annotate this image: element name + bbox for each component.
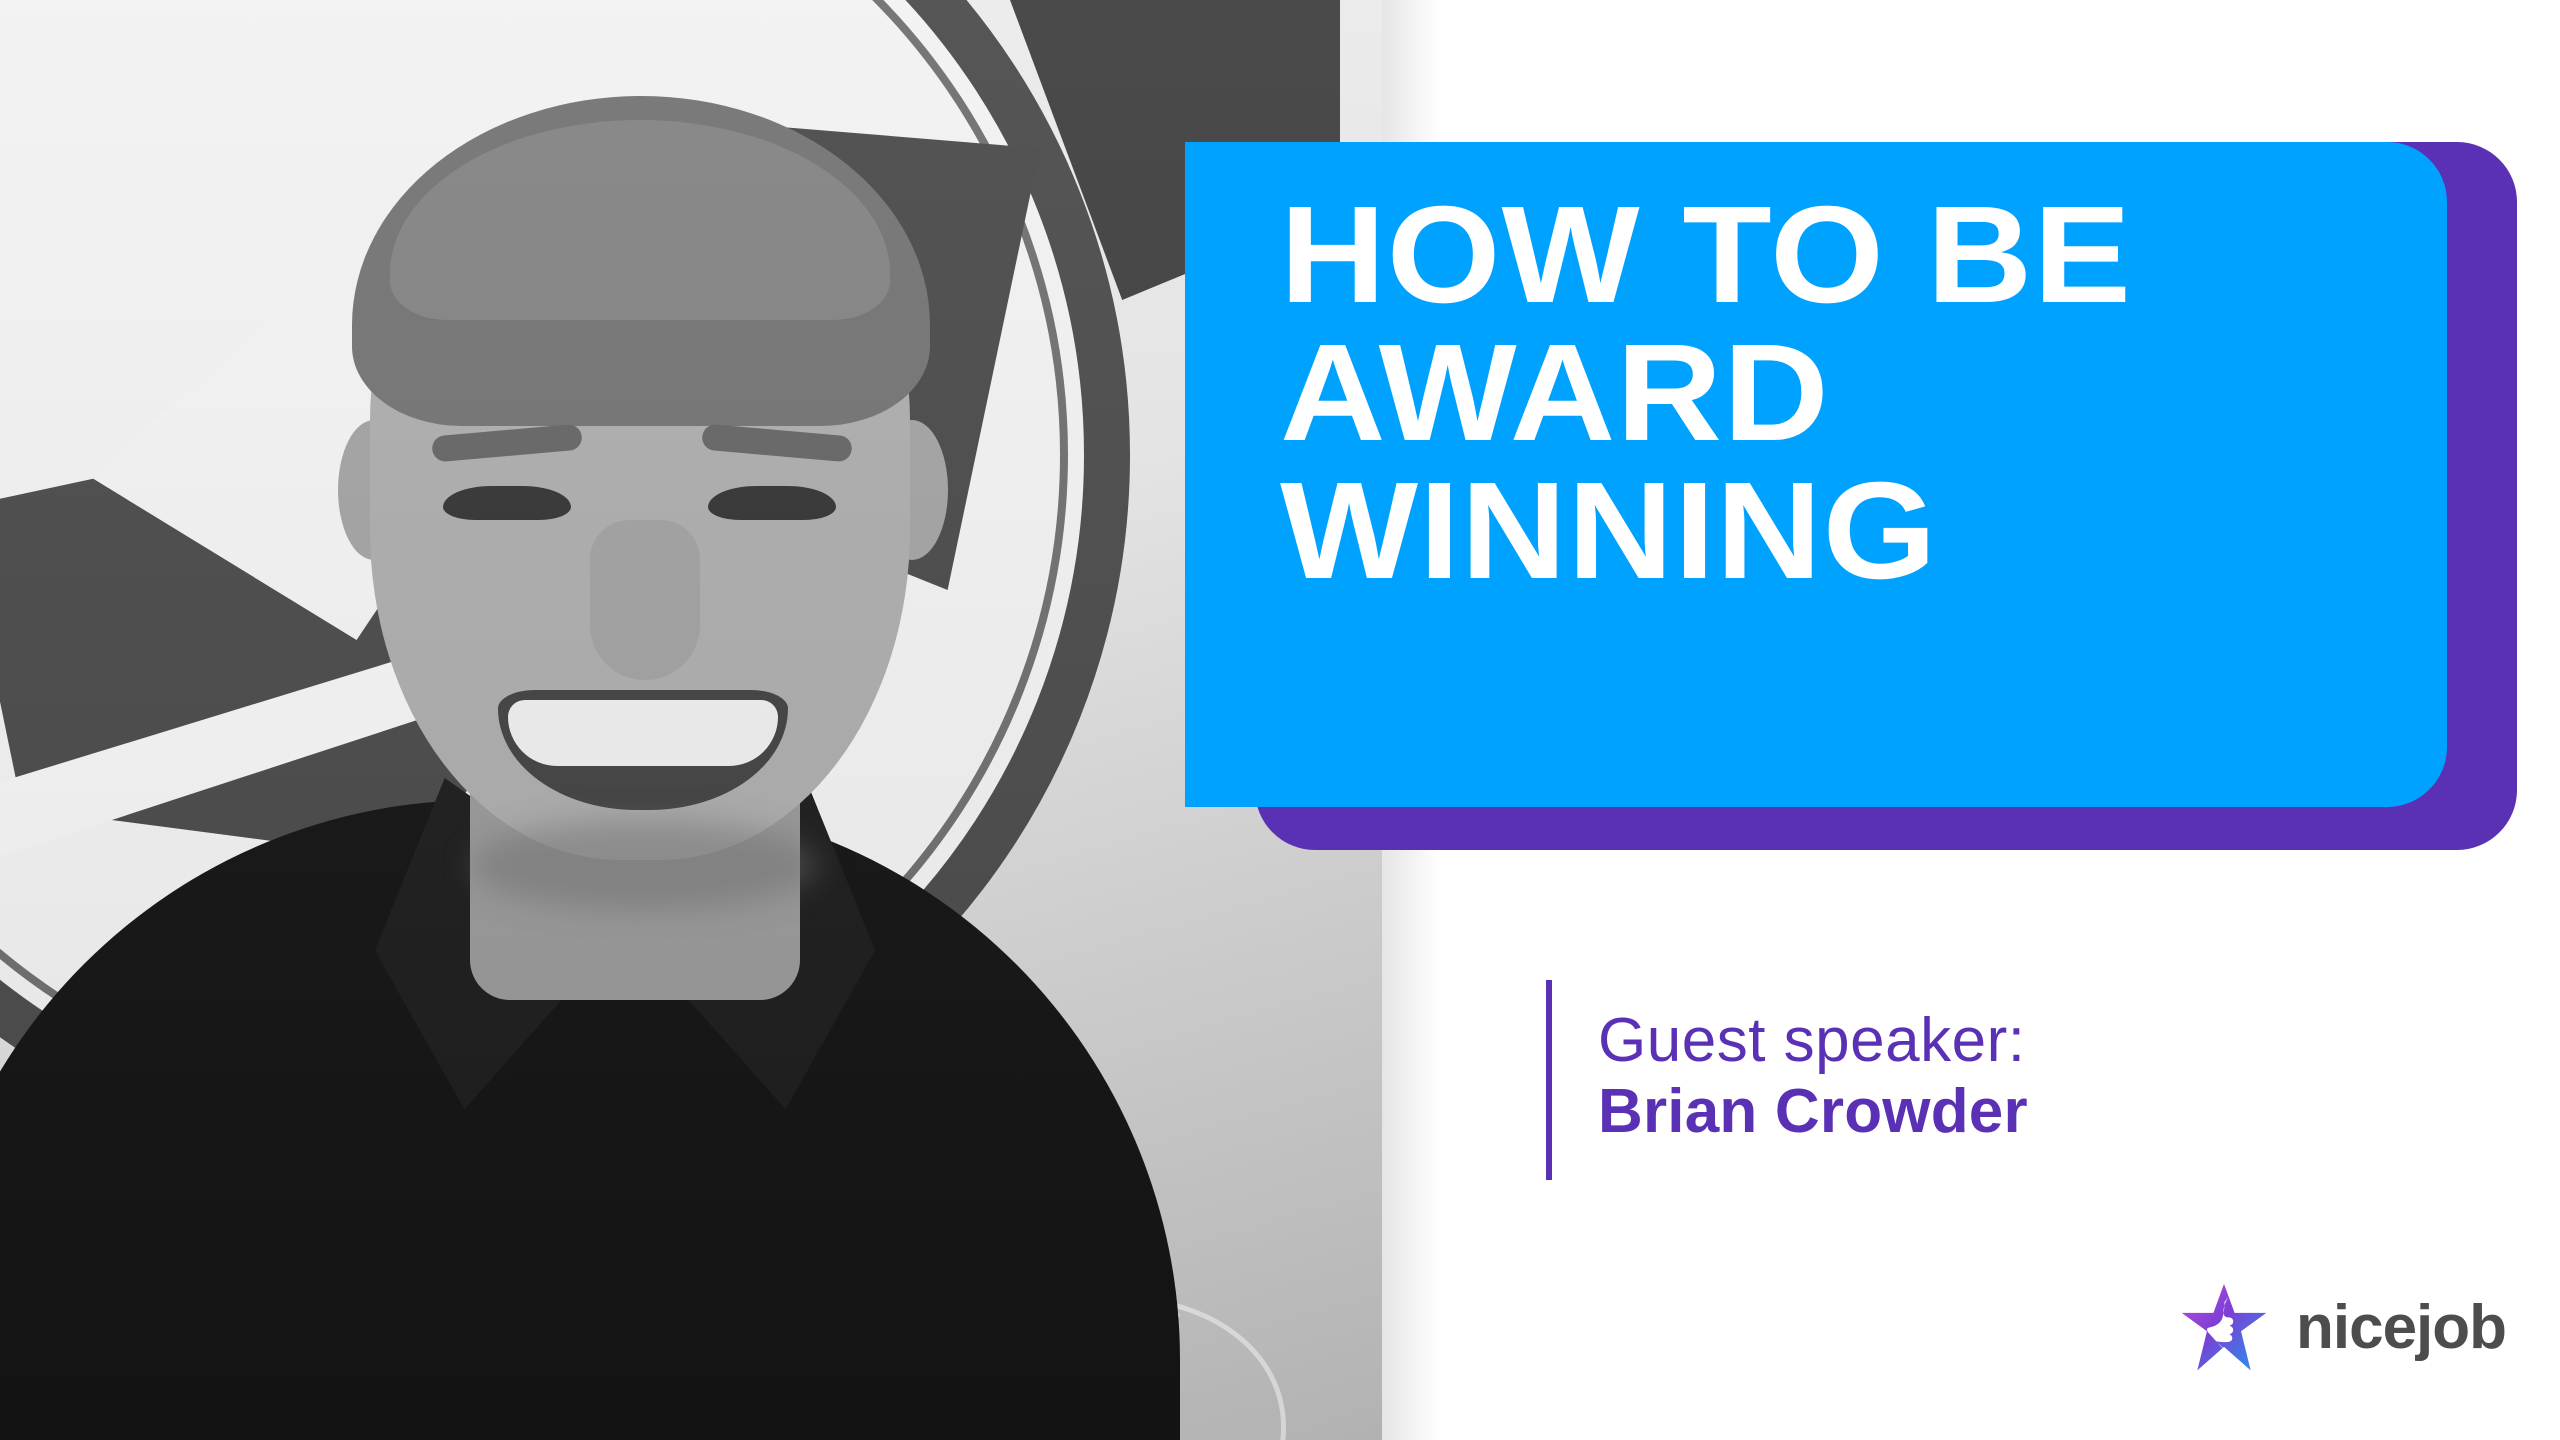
- title-card: How to be Award Winning: [1185, 142, 2447, 807]
- subject-nose: [590, 520, 700, 680]
- webinar-promo-slide: CURB APPEAL How to be A: [0, 0, 2560, 1440]
- photo-subject: [0, 0, 1382, 1440]
- title-line-3: Winning: [1280, 462, 2467, 600]
- title-line-1: How to be: [1280, 186, 2467, 324]
- guest-speaker-block: Guest speaker: Brian Crowder: [1546, 980, 2028, 1180]
- subject-chin-shadow: [470, 820, 820, 910]
- speaker-name: Brian Crowder: [1598, 1075, 2028, 1148]
- subject-teeth: [508, 700, 778, 766]
- speaker-photo: CURB APPEAL: [0, 0, 1382, 1440]
- subject-eye-left: [443, 486, 571, 520]
- page-title: How to be Award Winning: [1280, 186, 2467, 600]
- nicejob-logo: nicejob: [2178, 1282, 2506, 1374]
- subject-eye-right: [708, 486, 836, 520]
- speaker-text-group: Guest speaker: Brian Crowder: [1552, 980, 2028, 1180]
- title-line-2: Award: [1280, 324, 2467, 462]
- nicejob-wordmark: nicejob: [2296, 1297, 2506, 1359]
- star-thumbsup-icon: [2178, 1282, 2270, 1374]
- speaker-label: Guest speaker:: [1598, 1006, 2028, 1075]
